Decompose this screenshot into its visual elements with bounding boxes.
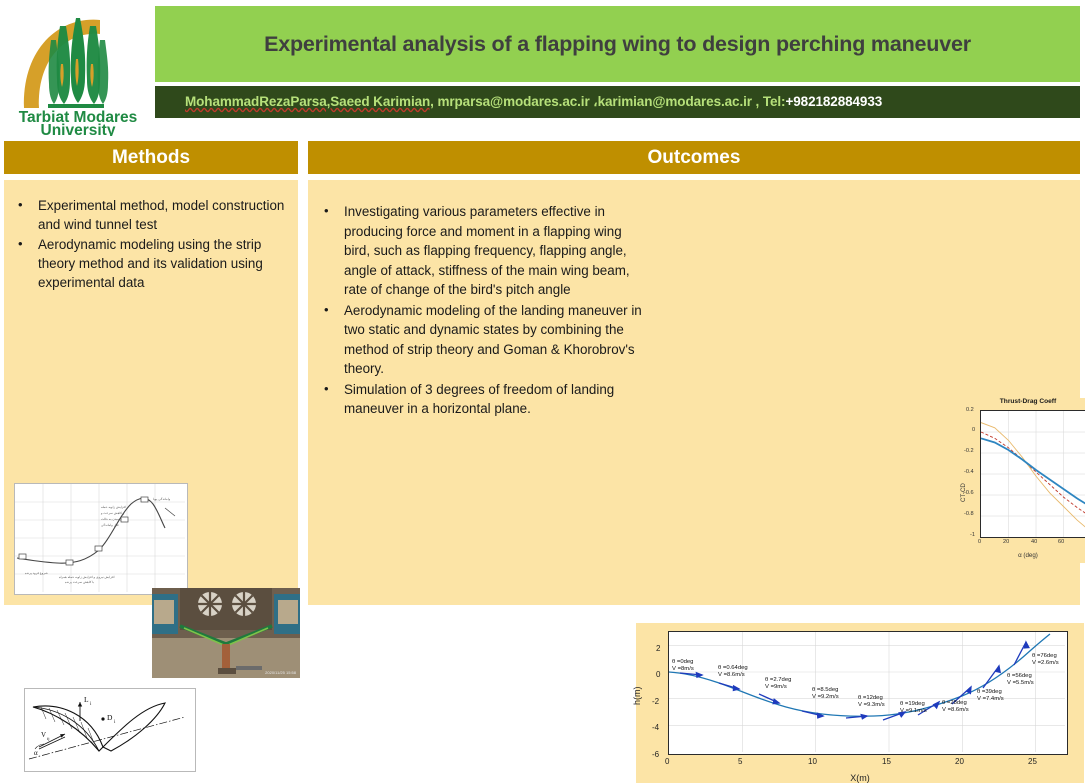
annotation-theta: θ =2.7deg — [765, 677, 791, 683]
annotation-theta: θ =0deg — [672, 659, 693, 665]
annotation-theta: θ =0.64deg — [718, 665, 748, 671]
persian-handdrawn-curve-figure: افزایش زاویه حمله و کاهش سرعت و رسیدن به… — [14, 483, 188, 595]
annotation-theta: θ =28deg — [942, 700, 967, 706]
chart-thrust-drag-coeff: Thrust-Drag Coeff CT-CD 0.2 0 — [958, 398, 1085, 563]
chart-x-axis-label: X(m) — [636, 773, 1084, 783]
list-item: Investigating various parameters effecti… — [318, 202, 643, 300]
svg-text:واماندگی پویا: واماندگی پویا — [153, 497, 171, 501]
annotation-theta: θ =39deg — [977, 689, 1002, 695]
svg-text:L: L — [84, 695, 89, 704]
annotation-theta: θ =76deg — [1032, 653, 1057, 659]
wind-tunnel-photo-svg: 2020/11/25 15:58 — [152, 588, 300, 678]
annotation-velocity: V =2.6m/s — [1032, 660, 1059, 666]
page-title: Experimental analysis of a flapping wing… — [264, 32, 971, 57]
section-header-outcomes: Outcomes — [308, 141, 1080, 174]
annotation-velocity: V =9m/s — [765, 684, 787, 690]
annotation-velocity: V =7.4m/s — [977, 696, 1004, 702]
author-telephone: +982182884933 — [785, 94, 882, 109]
list-item: Aerodynamic modeling using the strip the… — [12, 235, 294, 292]
chart-landing-trajectory: h(m) — [636, 623, 1084, 783]
annotation-theta: θ =19deg — [900, 701, 925, 707]
annotation-velocity: V =9.1m/s — [900, 708, 927, 714]
handdrawn-curve-svg: افزایش زاویه حمله و کاهش سرعت و رسیدن به… — [15, 484, 185, 592]
svg-text:و کاهش سرعت و: و کاهش سرعت و — [100, 511, 125, 515]
methods-panel: Experimental method, model construction … — [4, 180, 298, 605]
chart-plot-area — [669, 632, 1065, 752]
poster-canvas: Tarbiat Modares University Experimental … — [0, 0, 1085, 609]
svg-text:شروع فرود پرنده: شروع فرود پرنده — [25, 571, 48, 575]
annotation-theta: θ =12deg — [858, 695, 883, 701]
svg-text:رسیدن به حالت: رسیدن به حالت — [101, 517, 122, 521]
annotation-velocity: V =9.2m/s — [812, 694, 839, 700]
chart-x-axis-label: α (deg) — [958, 552, 1085, 559]
poster-title-bar: Experimental analysis of a flapping wing… — [155, 6, 1080, 82]
annotation-velocity: V =5.5m/s — [1007, 680, 1034, 686]
authors-bar: MohammadRezaParsa,Saeed Karimian, mrpars… — [155, 86, 1080, 118]
wind-tunnel-photo: 2020/11/25 15:58 — [152, 588, 300, 678]
author-names: MohammadRezaParsa,Saeed Karimian, — [185, 94, 434, 109]
outcomes-title: Outcomes — [648, 147, 741, 169]
annotation-velocity: V =8.6m/s — [942, 707, 969, 713]
wing-diagram-svg: L i D i V ij α — [25, 689, 193, 769]
chart-plot-area — [981, 411, 1085, 537]
author-emails: mrparsa@modares.ac.ir ،karimian@modares.… — [434, 94, 786, 109]
svg-text:ij: ij — [47, 736, 50, 741]
svg-text:با کاهش سرعت پرنده: با کاهش سرعت پرنده — [65, 580, 94, 584]
svg-text:α: α — [34, 749, 38, 757]
tarbiat-modares-logo-icon: Tarbiat Modares University — [8, 4, 148, 136]
svg-text:افزایش زاویه حمله: افزایش زاویه حمله — [101, 505, 126, 509]
chart-y-axis-label: h(m) — [632, 687, 642, 706]
annotation-velocity: V =8m/s — [672, 666, 694, 672]
strip-theory-wing-diagram: L i D i V ij α — [24, 688, 196, 772]
methods-title: Methods — [112, 147, 190, 169]
annotation-velocity: V =9.3m/s — [858, 702, 885, 708]
outcomes-bullet-list: Investigating various parameters effecti… — [318, 202, 643, 420]
annotation-theta: θ =8.5deg — [812, 687, 838, 693]
section-header-methods: Methods — [4, 141, 298, 174]
svg-text:افزایش نیروی و افزایش زاویه حم: افزایش نیروی و افزایش زاویه حمله همراه — [59, 575, 115, 579]
chart-title: Thrust-Drag Coeff — [958, 398, 1085, 405]
outcomes-panel: Investigating various parameters effecti… — [308, 180, 1080, 605]
annotation-velocity: V =8.6m/s — [718, 672, 745, 678]
svg-text:2020/11/25 15:58: 2020/11/25 15:58 — [265, 670, 297, 675]
university-logo: Tarbiat Modares University — [0, 0, 152, 140]
svg-text:قبل واماندگی: قبل واماندگی — [101, 523, 119, 527]
list-item: Experimental method, model construction … — [12, 196, 294, 234]
logo-line2: University — [41, 122, 116, 136]
annotation-theta: θ =56deg — [1007, 673, 1032, 679]
list-item: Aerodynamic modeling of the landing mane… — [318, 301, 643, 379]
svg-text:V: V — [41, 731, 46, 739]
methods-bullet-list: Experimental method, model construction … — [12, 196, 294, 293]
svg-text:D: D — [107, 713, 113, 722]
list-item: Simulation of 3 degrees of freedom of la… — [318, 380, 643, 419]
